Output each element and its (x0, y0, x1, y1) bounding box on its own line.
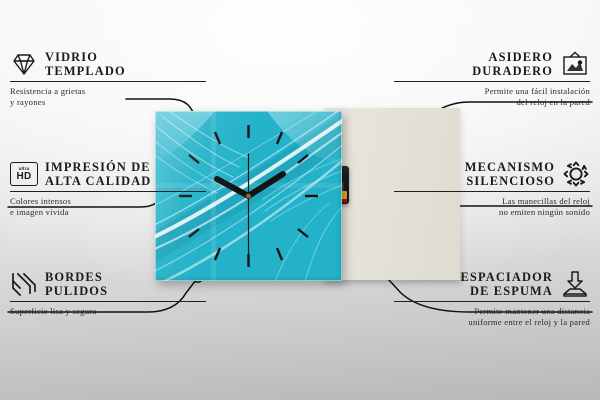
feature-bordes-pulidos: BORDES PULIDOS Superficie lisa y segura (10, 270, 206, 317)
ultra-hd-badge-main-text: HD (16, 172, 31, 182)
feature-espaciador-de-espuma: ESPACIADOR DE ESPUMA Permite mantener un… (394, 270, 590, 328)
feature-title-line2: SILENCIOSO (465, 174, 555, 188)
feature-desc-line2: e imagen vívida (10, 207, 206, 218)
feature-divider (10, 301, 206, 302)
feature-desc-line1: Las manecillas del reloj (394, 196, 590, 207)
infographic-canvas: ALKALINE (0, 0, 600, 400)
feature-asidero-duradero: ASIDERO DURADERO Permite una fácil insta… (394, 50, 590, 108)
feature-desc-line1: Superficie lisa y segura (10, 306, 206, 317)
feature-title-line2: DURADERO (472, 64, 553, 78)
picture-hanger-icon (560, 51, 590, 78)
ultra-hd-badge-icon: ultra HD (10, 162, 38, 186)
feature-title-line1: IMPRESIÓN DE (45, 160, 151, 174)
feature-title-line1: BORDES (45, 270, 108, 284)
feature-divider (394, 81, 590, 82)
feature-desc-line1: Permite una fácil instalación (394, 86, 590, 97)
feature-divider (10, 191, 206, 192)
feature-desc-line2: del reloj en la pared (394, 97, 590, 108)
feature-vidrio-templado: VIDRIO TEMPLADO Resistencia a grietas y … (10, 50, 206, 108)
feature-title-line2: TEMPLADO (45, 64, 126, 78)
foam-spacer-icon (560, 270, 590, 298)
feature-title-line2: DE ESPUMA (460, 284, 553, 298)
feature-impresion-alta-calidad: ultra HD IMPRESIÓN DE ALTA CALIDAD Color… (10, 160, 206, 218)
feature-title-line1: ASIDERO (472, 50, 553, 64)
feature-title-line1: MECANISMO (465, 160, 555, 174)
feature-desc-line2: y rayones (10, 97, 206, 108)
feature-desc-line2: no emiten ningún sonido (394, 207, 590, 218)
feature-title-line2: ALTA CALIDAD (45, 174, 151, 188)
gear-icon (562, 160, 590, 188)
feature-title-line1: VIDRIO (45, 50, 126, 64)
feature-mecanismo-silencioso: MECANISMO SILENCIOSO Las manecillas del (394, 160, 590, 218)
feature-desc-line1: Colores intensos (10, 196, 206, 207)
feature-desc-line1: Resistencia a grietas (10, 86, 206, 97)
feature-desc-line1: Permite mantener una distancia (394, 306, 590, 317)
polished-edges-icon (10, 271, 38, 297)
feature-divider (10, 81, 206, 82)
feature-desc-line2: uniforme entre el reloj y la pared (394, 317, 590, 328)
feature-divider (394, 301, 590, 302)
diamond-icon (10, 51, 38, 77)
feature-title-line1: ESPACIADOR (460, 270, 553, 284)
feature-divider (394, 191, 590, 192)
feature-title-line2: PULIDOS (45, 284, 108, 298)
